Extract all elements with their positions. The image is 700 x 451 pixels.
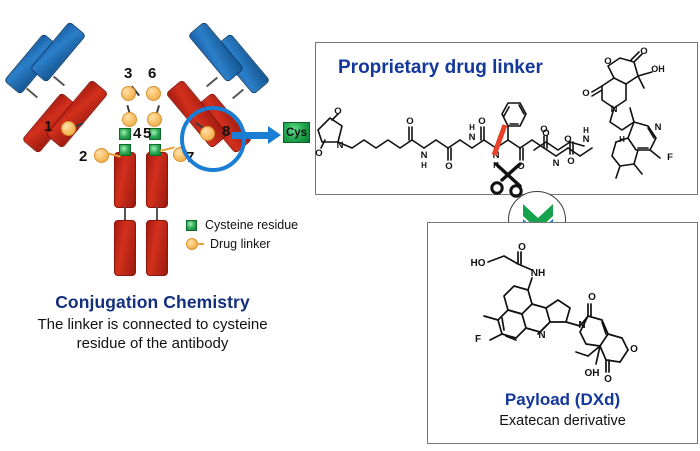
site-number-6: 6	[148, 66, 156, 81]
exatecan-o-lactone: O	[640, 46, 647, 57]
antibody-ch3-left	[114, 220, 136, 276]
site-number-4: 4	[133, 126, 141, 141]
payload-panel-subtitle: Exatecan derivative	[428, 413, 697, 429]
atom-label-h-2: H	[469, 123, 475, 132]
legend-label-cysteine: Cysteine residue	[205, 218, 298, 232]
drug-linker-site-1	[61, 121, 76, 136]
callout-arrow-head	[268, 126, 281, 144]
exatecan-f: F	[667, 152, 673, 163]
exatecan-o-keto: O	[582, 88, 589, 99]
drug-linker-panel-title: Proprietary drug linker	[338, 57, 543, 79]
legend: Cysteine residue Drug linker	[186, 217, 298, 255]
site-number-1: 1	[44, 119, 52, 134]
site-number-2: 2	[79, 149, 87, 164]
atom-label-o-maleimide-bottom: O	[315, 148, 322, 159]
cysteine-residue-site-2-anchor	[119, 144, 131, 156]
legend-item-cysteine: Cysteine residue	[186, 217, 298, 233]
drug-linker-icon-tail	[197, 243, 204, 245]
atom-label-o-spacer: O	[542, 128, 549, 139]
dxd-n-lactam: N	[578, 320, 585, 331]
atom-label-n-2: N	[469, 132, 476, 143]
atom-label-o-maleimide-top: O	[334, 106, 341, 117]
exatecan-oh: OH	[651, 64, 665, 74]
site-number-3: 3	[124, 66, 132, 81]
dxd-n-quinoline: N	[538, 330, 545, 341]
exatecan-head-structure: O O OH O N N F H	[572, 46, 692, 194]
dxd-o-lactam: O	[588, 292, 596, 303]
antibody-hinge-left-outer	[26, 88, 38, 99]
dxd-o-lactone: O	[604, 374, 612, 385]
drug-linker-site-3	[121, 86, 136, 101]
antibody-fc-link-right	[156, 207, 158, 221]
legend-item-drug-linker: Drug linker	[186, 236, 298, 252]
antibody-ch2-right	[146, 152, 168, 208]
legend-label-drug-linker: Drug linker	[210, 237, 270, 251]
exatecan-n-2: N	[655, 122, 662, 133]
atom-label-o-2: O	[445, 161, 452, 172]
drug-linker-site-6	[146, 86, 161, 101]
callout-arrow-shaft	[232, 132, 270, 139]
conjugation-caption-title: Conjugation Chemistry	[0, 292, 305, 313]
exatecan-o-ring: O	[604, 56, 611, 67]
cys-tag: Cys	[283, 122, 310, 143]
scissors-handle-right	[511, 186, 521, 196]
conjugation-caption-line1: The linker is connected to cysteine	[0, 316, 305, 335]
dxd-o-ester: O	[630, 344, 638, 355]
conjugation-caption-line2: residue of the antibody	[0, 335, 305, 354]
antibody-ch2-left	[114, 152, 136, 208]
dxd-f: F	[475, 334, 481, 345]
drug-linker-site-2	[94, 148, 109, 163]
dxd-carbonyl-o: O	[518, 242, 526, 253]
drug-linker-icon	[186, 237, 205, 251]
antibody-fc-link-left	[124, 207, 126, 221]
exatecan-h: H	[619, 135, 625, 144]
dxd-payload-structure: HO O NH F N N O O O OH	[466, 246, 656, 396]
cysteine-residue-site-4	[119, 128, 131, 140]
antibody-hinge-right-outer	[232, 89, 244, 100]
site-8-highlight-circle	[180, 106, 246, 172]
cysteine-residue-icon	[186, 220, 197, 231]
site-number-5: 5	[143, 126, 151, 141]
antibody-hinge-right-inner	[206, 77, 218, 88]
dxd-ho: HO	[471, 258, 486, 269]
atom-label-o-3: O	[478, 116, 485, 127]
scissors-handle-left	[492, 183, 502, 193]
figure-canvas: 1 2 3 4 5 6 7 8 Cysteine residue Drug li…	[0, 0, 700, 451]
antibody-hinge-left-inner	[53, 76, 65, 87]
dxd-nh: NH	[531, 268, 545, 279]
atom-label-o-1: O	[406, 116, 413, 127]
atom-label-n-1: N	[421, 150, 428, 161]
exatecan-n-1: N	[611, 104, 618, 115]
atom-label-n-maleimide: N	[337, 140, 344, 151]
antibody-ch3-right	[146, 220, 168, 276]
dxd-oh: OH	[585, 368, 600, 379]
atom-label-h-1: H	[421, 161, 427, 170]
